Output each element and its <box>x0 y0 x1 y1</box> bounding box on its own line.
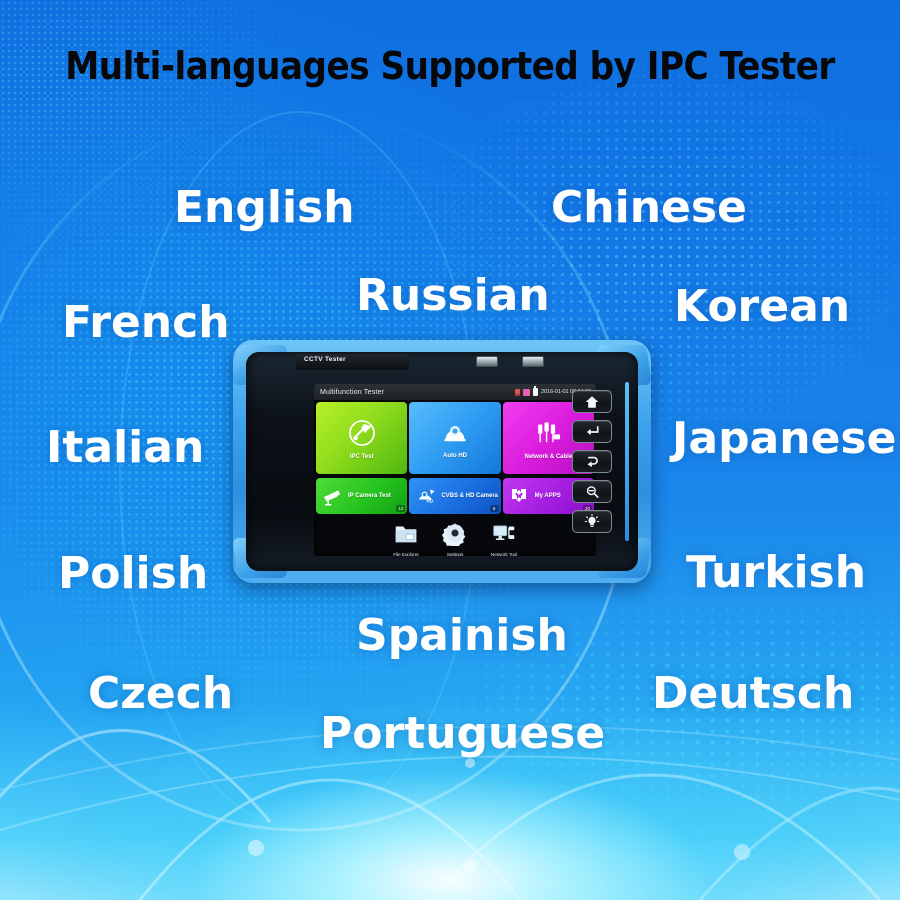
dock-item-file-explorer[interactable]: File Explorer <box>386 520 426 556</box>
device-brand-label: CCTV Tester <box>304 356 346 363</box>
hd-camera-icon: HD <box>413 484 437 508</box>
language-label-korean: Korean <box>674 281 850 332</box>
language-label-deutsch: Deutsch <box>652 668 854 719</box>
tile-badge: 6 <box>490 505 499 512</box>
language-label-english: English <box>174 182 355 233</box>
lamp-key[interactable] <box>572 510 612 533</box>
language-label-italian: Italian <box>46 422 204 473</box>
language-label-chinese: Chinese <box>551 182 747 233</box>
tile-label: Auto HD <box>443 453 467 459</box>
device-screen[interactable]: Multifunction Tester 2016-01-01 08:04:00… <box>314 384 596 556</box>
ipc-tester-device: CCTV Tester Multifunction Tester 2016-01… <box>233 340 651 583</box>
usb-icon <box>523 389 530 396</box>
device-bumper: CCTV Tester Multifunction Tester 2016-01… <box>233 340 651 583</box>
status-bar: Multifunction Tester 2016-01-01 08:04:00 <box>314 384 596 400</box>
network-monitor-icon <box>491 520 517 551</box>
dome-camera-icon <box>439 417 471 449</box>
gear-icon <box>442 520 468 551</box>
hdmi-connector <box>522 356 544 367</box>
tile-ipc-test[interactable]: IPC Test <box>316 402 407 474</box>
tile-grid-row-1: IPC TestAuto HDNetwork & Cable2 <box>314 400 596 474</box>
language-label-portuguese: Portuguese <box>320 708 605 759</box>
enter-arrow-icon <box>584 425 600 439</box>
language-label-japanese: Japanese <box>672 413 896 464</box>
home-key[interactable] <box>572 390 612 413</box>
bullet-camera-icon <box>320 484 344 508</box>
zoom-out-key[interactable] <box>572 480 612 503</box>
svg-text:HD: HD <box>427 499 434 504</box>
battery-icon <box>533 388 538 396</box>
satellite-dish-icon <box>345 416 379 450</box>
tile-label: CVBS & HD Camera <box>441 493 498 499</box>
app-dock: File ExplorerSettingsNetwork Tool <box>314 514 596 556</box>
sd-card-icon <box>515 389 520 396</box>
back-key[interactable] <box>572 450 612 473</box>
tile-label: My APPS <box>535 493 561 499</box>
tile-label: IP Camera Test <box>348 493 391 499</box>
device-body: CCTV Tester Multifunction Tester 2016-01… <box>246 352 638 571</box>
bnc-connector <box>476 356 498 367</box>
led-indicators <box>586 379 600 383</box>
folder-icon <box>393 520 419 551</box>
back-arrow-icon <box>584 455 600 469</box>
cable-tester-icon <box>531 416 565 450</box>
hardware-key-column <box>572 390 612 533</box>
language-label-czech: Czech <box>88 668 233 719</box>
dock-item-label: Network Tool <box>491 553 517 556</box>
tile-label: IPC Test <box>350 454 374 460</box>
home-icon <box>584 395 600 409</box>
language-label-russian: Russian <box>356 270 550 321</box>
tile-label: Network & Cable <box>524 454 572 460</box>
tile-auto-hd[interactable]: Auto HD <box>409 402 500 474</box>
dock-item-settings[interactable]: Settings <box>435 520 475 556</box>
dock-item-label: Settings <box>447 553 464 556</box>
language-label-polish: Polish <box>58 548 208 599</box>
lightbulb-icon <box>584 514 600 529</box>
language-label-spainish: Spainish <box>356 610 568 661</box>
tile-badge: 12 <box>396 505 405 512</box>
page-title: Multi-languages Supported by IPC Tester <box>0 44 900 88</box>
tile-cvbs-hd-camera[interactable]: HDCVBS & HD Camera6 <box>409 478 500 514</box>
poster-canvas: Multi-languages Supported by IPC Tester … <box>0 0 900 900</box>
dock-item-network-tool[interactable]: Network Tool <box>484 520 524 556</box>
tile-grid-row-2: IP Camera Test12HDCVBS & HD Camera6My AP… <box>314 476 596 514</box>
status-bar-title: Multifunction Tester <box>320 389 384 396</box>
tile-ip-camera-test[interactable]: IP Camera Test12 <box>316 478 407 514</box>
language-label-french: French <box>62 297 230 348</box>
apps-grid-icon <box>507 484 531 508</box>
dock-item-label: File Explorer <box>393 553 419 556</box>
led-indicator <box>596 379 600 383</box>
side-accent-strip <box>625 382 629 541</box>
magnifier-minus-icon <box>584 485 600 499</box>
led-indicator <box>586 379 590 383</box>
enter-key[interactable] <box>572 420 612 443</box>
language-label-turkish: Turkish <box>686 547 866 598</box>
